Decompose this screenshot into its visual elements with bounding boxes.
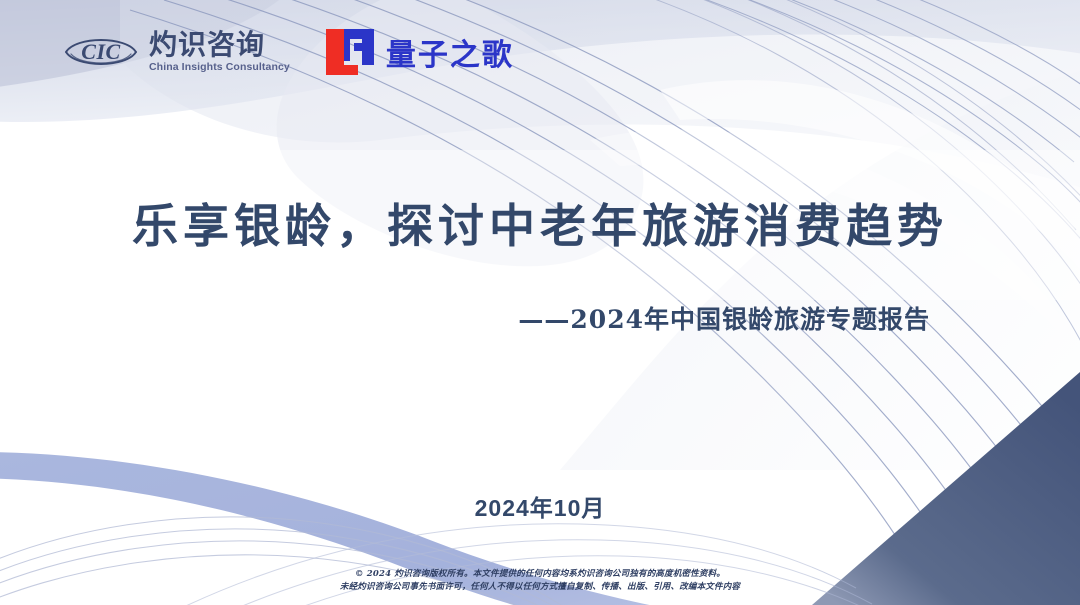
cic-wordmark: 灼识咨询 China Insights Consultancy [149, 31, 290, 73]
copyright-line-1: © 2024 灼识咨询版权所有。本文件提供的任何内容均系灼识咨询公司独有的高度机… [0, 568, 1080, 581]
cic-logo[interactable]: CIC 灼识咨询 China Insights Consultancy [62, 30, 290, 74]
page-subtitle: ——2024年中国银龄旅游专题报告 [518, 300, 930, 336]
title-slide: CIC 灼识咨询 China Insights Consultancy 量子之歌… [0, 0, 1080, 605]
cic-wordmark-en: China Insights Consultancy [149, 62, 290, 73]
logo-row: CIC 灼识咨询 China Insights Consultancy 量子之歌 [62, 27, 514, 77]
publication-date: 2024年10月 [0, 489, 1080, 523]
copyright-footer: © 2024 灼识咨询版权所有。本文件提供的任何内容均系灼识咨询公司独有的高度机… [0, 568, 1080, 594]
copyright-line-2: 未经灼识咨询公司事先书面许可，任何人不得以任何方式擅自复制、传播、出版、引用、改… [0, 581, 1080, 594]
quantasing-bracket-icon [324, 27, 376, 77]
svg-text:CIC: CIC [81, 39, 120, 64]
cic-lens-icon: CIC [62, 30, 140, 74]
quantasing-logo[interactable]: 量子之歌 [324, 27, 514, 77]
cic-wordmark-cn: 灼识咨询 [149, 31, 290, 59]
page-title: 乐享银龄，探讨中老年旅游消费趋势 [0, 190, 1080, 256]
quantasing-wordmark-cn: 量子之歌 [386, 30, 514, 74]
